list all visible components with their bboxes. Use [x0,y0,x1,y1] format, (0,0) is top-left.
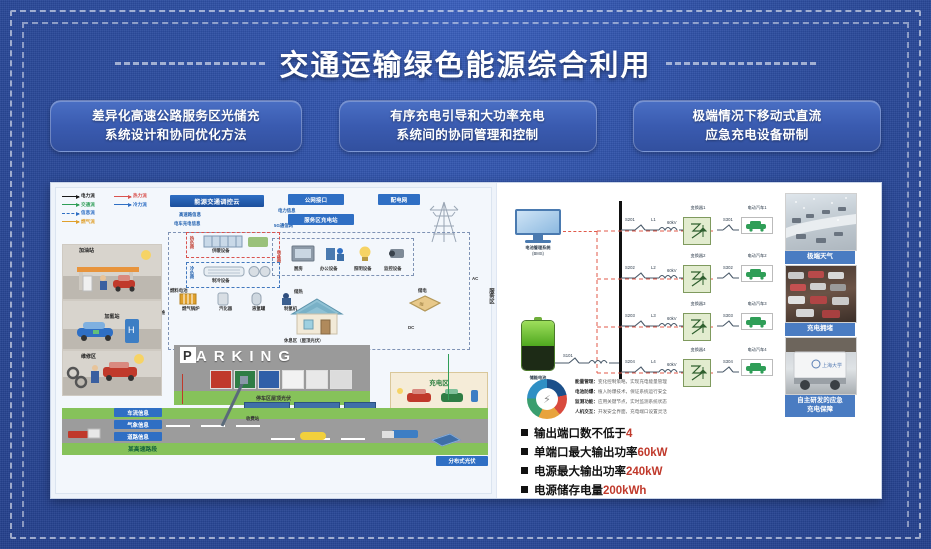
right-emergency-charger-panel: 电池管理系统 (BMS) 储能电池 S101 [497,183,881,498]
feature-desc-1: 植入防爆技术，保证系统运行安全 [598,389,667,394]
legend-item-5: 燃气流 [62,219,109,225]
energy-storage-battery-icon [521,317,555,371]
charging-area-title: 充电区 [391,377,487,387]
branch-0-wiring [621,223,739,237]
legend-item-3: 冷力流 [114,202,161,208]
spec-item-1: 单端口最大输出功率60kW [521,444,668,460]
branch-2-inductor-label: L3 [651,313,656,318]
refuel-station-tile: 加油站 [62,244,162,300]
branch-3-ev-car [741,359,773,376]
photo-extreme-weather-caption: 极端天气 [785,251,855,264]
topic-pill-1[interactable]: 差异化高速公路服务区光储充 系统设计和协同优化方法 [50,100,302,152]
branch-1-switch-label: S202 [625,265,635,270]
poster-title-row: 交通运输绿色能源综合利用 [0,40,931,86]
branch-2-converter-label: 变换器3 [683,301,713,307]
heat-storage-label: 储热 [294,289,303,295]
photo-extreme-weather-image [785,193,857,251]
storage-battery-icon: ≋ [408,294,442,314]
spec-value-1: 60kW [638,447,668,459]
distributed-pv-label[interactable]: 分布式光伏 [436,456,488,466]
spec-text-2: 电源最大输出功率 [534,466,626,478]
poster-background: 交通运输绿色能源综合利用 差异化高速公路服务区光储充 系统设计和协同优化方法 有… [0,0,931,549]
cold-load-label: 冷负荷 [189,266,195,279]
branch-3-converter-label: 变换器4 [683,347,713,353]
branch-3-inductor-label: L4 [651,359,656,364]
branch-0-ev-car [741,217,773,234]
feature-desc-2: 应用关键节点，实时监测系统状态 [598,399,667,404]
spec-text-3: 电源储存电量 [534,485,603,497]
bullet-square-icon [521,448,528,455]
spec-item-3: 电源储存电量200kWh [521,482,668,498]
monitor-screen [515,209,561,235]
left-diagram-inner: 电力流 热力流 交通流 冷 [55,187,492,494]
heating-equipment-icon [202,234,272,249]
branch-2-ev-car [741,313,773,330]
service-area-charging-station-box[interactable]: 服务区充电站 [288,214,354,225]
gas-chain-label-0: 燃气锅炉 [182,306,200,312]
feature-name-0: 能量管理： [575,379,598,384]
heat-load-label: 热负荷 [189,236,195,249]
photo-emergency-charger[interactable]: 上海大学 自主研发的应急 充电保障 [785,337,855,417]
branch-1-converter-label: 变换器2 [683,253,713,259]
title-dash-right [666,62,816,65]
legend-line-icon [62,204,79,205]
ac-label: AC [472,276,478,281]
bms-monitor-icon [515,209,561,243]
spec-value-2: 240kW [626,466,662,478]
battery-bus-wiring [555,353,621,373]
hydrogen-station-icons: H [63,301,161,349]
elec-device-label-1: 办公设备 [320,266,338,272]
legend-item-2: 交通流 [62,202,109,208]
battery-empty-fill [522,346,554,370]
legend-line-icon [62,213,79,214]
elec-device-label-3: 监控设备 [384,266,402,272]
svg-text:P: P [183,348,192,363]
title-dash-left [115,62,265,65]
cooling-equipment-icon [202,264,272,279]
legend-label-3: 冷力流 [133,202,147,208]
topic-pill-3-line1: 极端情况下移动式直流 [692,107,821,126]
branch-3-switch-label: S204 [625,359,635,364]
electric-devices-icons [290,244,412,266]
distributed-pv-icon [424,426,464,452]
hydrogen-station-label: 加氢站 [63,313,161,320]
spec-item-0: 输出端口数不低于4 [521,425,668,441]
bullet-square-icon [521,429,528,436]
feature-name-1: 电池防爆： [575,389,598,394]
branch-0-inductor-label: L1 [651,217,656,222]
rest-area-label: 休息区（屋顶光伏） [284,338,324,344]
photo-emergency-charger-caption: 自主研发的应急 充电保障 [785,395,855,417]
feature-name-2: 监测功能： [575,399,598,404]
feature-name-3: 人机交互： [575,409,598,414]
service-area-vertical-label: 服务区 [487,288,495,304]
legend-item-4: 信息流 [62,210,109,216]
legend-line-icon [62,221,79,222]
branch-1-wiring [621,271,739,285]
feature-row-2: 监测功能：应用关键节点，实时监测系统状态 [575,399,667,405]
branch-1-converter [683,265,711,293]
legend-line-icon [62,196,79,197]
branch-0-car-label: 电动汽车1 [741,205,773,211]
feature-row-1: 电池防爆：植入防爆技术，保证系统运行安全 [575,389,667,395]
branch-2-out-switch-label: S303 [723,313,733,318]
branch-2-switch-label: S203 [625,313,635,318]
branch-0-converter [683,217,711,245]
elec-device-label-0: 厨房 [294,266,303,272]
spec-text-0: 输出端口数不低于 [534,428,626,440]
repair-area-label: 维修区 [81,353,161,360]
feature-desc-3: 开发安全界面，充电端口设置灵活 [598,409,667,414]
toll-gate-label: 收费站 [246,416,259,422]
topic-pill-1-line2: 系统设计和协同优化方法 [105,126,247,145]
branch-1-ev-car [741,265,773,282]
fuel-cell-label: 燃料电池 [170,288,188,294]
legend-line-icon [114,204,131,205]
branch-2-converter [683,313,711,341]
legend-label-2: 交通流 [81,202,95,208]
hydrogen-station-tile: H 加氢站 [62,300,162,350]
topic-pill-2-line2: 系统间的协同管理和控制 [397,126,539,145]
photo-charging-congestion-caption: 充电拥堵 [785,323,855,336]
svg-text:上海大学: 上海大学 [822,362,842,369]
traffic-flow-arrow [448,354,449,400]
spec-text-1: 单端口最大输出功率 [534,447,638,459]
refuel-station-label: 加油站 [79,247,161,254]
legend-label-1: 热力流 [133,193,147,199]
topic-pill-row: 差异化高速公路服务区光储充 系统设计和协同优化方法 有序充电引导和大功率充电 系… [50,100,881,152]
legend-item-0: 电力流 [62,193,109,199]
legend-label-0: 电力流 [81,193,95,199]
highway-section-label: 某高速路段 [128,444,157,453]
parking-p-icon: P [180,347,196,363]
branch-0-out-switch-label: S301 [723,217,733,222]
battery-body [521,320,555,371]
spec-value-3: 200kWh [603,485,646,497]
branch-1-car-label: 电动汽车2 [741,253,773,259]
bms-sub-label: (BMS) [507,251,569,256]
main-figure-canvas: 电力流 热力流 交通流 冷 [50,182,882,499]
dc-arrow [182,374,183,404]
feature-row-3: 人机交互：开发安全界面，充电端口设置灵活 [575,409,667,415]
topic-pill-1-line1: 差异化高速公路服务区光储充 [92,107,260,126]
parking-lot: PARKING P [174,345,370,391]
photo-extreme-weather[interactable]: 极端天气 [785,193,855,264]
donut-center-icon: ⚡ [527,379,567,419]
topic-pill-2[interactable]: 有序充电引导和大功率充电 系统间的协同管理和控制 [339,100,597,152]
branch-3-wiring [621,365,739,379]
repair-area-tile: 维修区 [62,350,162,396]
left-system-diagram: 电力流 热力流 交通流 冷 [51,183,497,498]
branch-3-out-switch-label: S304 [723,359,733,364]
topic-pill-2-line1: 有序充电引导和大功率充电 [390,107,545,126]
right-panel-inner: 电池管理系统 (BMS) 储能电池 S101 [501,187,877,494]
cloud-input-1: 电车充电信息 [174,221,200,227]
distribution-network-box[interactable]: 配电网 [378,194,420,205]
branch-3-converter [683,359,711,387]
spec-bullet-list: 输出端口数不低于4 单端口最大输出功率60kW 电源最大输出功率240kW 电源… [521,425,668,498]
svg-text:≋: ≋ [419,302,424,308]
branch-1-out-switch-label: S302 [723,265,733,270]
photo-charging-congestion[interactable]: 充电拥堵 [785,265,855,336]
photo-emergency-charger-image: 上海大学 [785,337,857,395]
elec-device-label-2: 照明设备 [354,266,372,272]
branch-1-inductor-label: L2 [651,265,656,270]
photo-emergency-charger-caption-line2: 充电保障 [785,406,855,415]
branch-2-car-label: 电动汽车3 [741,301,773,307]
charging-pile-icons [397,387,483,409]
gas-chain-label-1: 汽化器 [219,306,232,312]
energy-transport-cloud[interactable]: 能源交通调控云 [170,195,264,207]
bullet-square-icon [521,486,528,493]
feature-row-0: 能量管理：变化控制策略，实现充电能量管理 [575,379,667,385]
branch-3-car-label: 电动汽车4 [741,347,773,353]
rest-area-house-icon [288,296,346,338]
parking-sign-text: PARKING [180,348,297,365]
legend-label-5: 燃气流 [81,219,95,225]
photo-emergency-charger-caption-line1: 自主研发的应急 [785,397,855,406]
control-signal-wire [563,231,597,232]
photo-charging-congestion-image [785,265,857,323]
flow-legend: 电力流 热力流 交通流 冷 [62,193,166,227]
battery-charge-fill [522,321,554,346]
legend-line-icon [114,196,131,197]
branch-2-wiring [621,319,739,333]
traffic-info-label[interactable]: 车流信息 [114,408,162,417]
branch-0-converter-label: 变换器1 [683,205,713,211]
public-grid-interface-box[interactable]: 公网接口 [288,194,344,205]
bullet-square-icon [521,467,528,474]
spec-value-0: 4 [626,428,632,440]
svg-text:H: H [128,325,135,335]
spec-item-2: 电源最大输出功率240kW [521,463,668,479]
feature-donut-chart: ⚡ [527,379,567,419]
topic-pill-3-line2: 应急充电设备研制 [705,126,808,145]
gas-chain-label-2: 液氢罐 [252,306,265,312]
legend-item-1: 热力流 [114,193,161,199]
legend-label-4: 信息流 [81,210,95,216]
branch-0-switch-label: S201 [625,217,635,222]
cloud-input-0: 高速路信息 [179,212,201,218]
topic-pill-3[interactable]: 极端情况下移动式直流 应急充电设备研制 [633,100,881,152]
monitor-base [525,240,551,243]
feature-desc-0: 变化控制策略，实现充电能量管理 [598,379,667,384]
page-title: 交通运输绿色能源综合利用 [279,42,651,84]
